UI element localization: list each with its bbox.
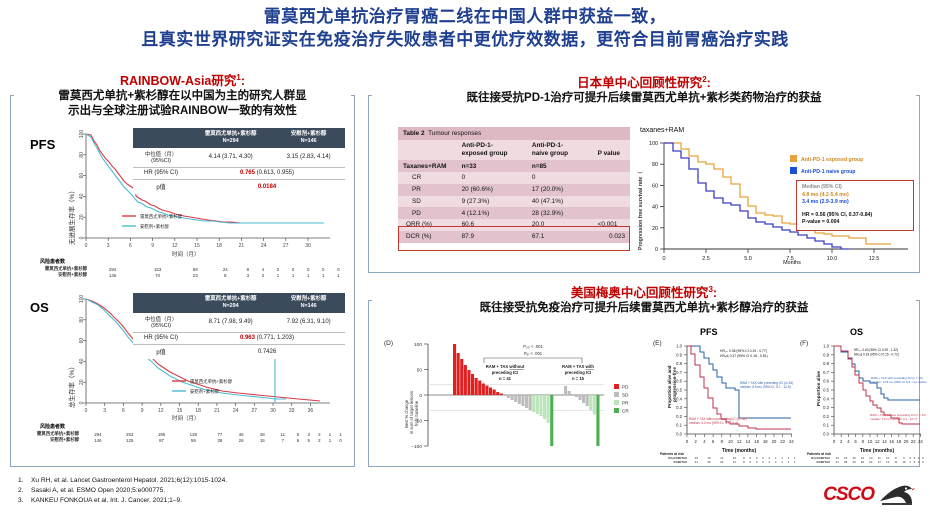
rainbow-asia-title: RAINBOW-Asia研究1: bbox=[14, 70, 351, 89]
svg-text:36: 36 bbox=[308, 408, 314, 414]
svg-text:Anti-PD-1 exposed group: Anti-PD-1 exposed group bbox=[801, 157, 863, 163]
svg-text:1.0: 1.0 bbox=[676, 344, 682, 349]
title-line-2: 且真实世界研究证实在免疫治疗失败患者中更优疗效数据，更符合目前胃癌治疗实践 bbox=[0, 29, 930, 52]
svg-text:0.0: 0.0 bbox=[823, 432, 829, 437]
table-row: Taxanes+RAM n=33 n=85 bbox=[398, 160, 630, 172]
os-risk-table: 风险患者数 雷莫西尤单抗+紫杉醇 294 253 196 128 77 46 2… bbox=[16, 423, 346, 443]
cell: 0 bbox=[457, 172, 527, 184]
table-row: 中位值（月） (95%CI) 4.14 (3.71, 4.30) 3.15 (2… bbox=[133, 148, 345, 168]
os-stat-table: 雷莫西尤单抗+紫杉醇 N=294 安慰剂+紫杉醇 N=146 中位值（月） (9… bbox=[133, 293, 345, 359]
svg-text:0: 0 bbox=[419, 393, 422, 399]
svg-text:3: 3 bbox=[107, 243, 110, 249]
cell: n=85 bbox=[527, 160, 593, 172]
os-median-v1: 8.71 (7.98, 9.49) bbox=[189, 313, 272, 333]
table-2-caption: Table 2 Tumour responses bbox=[398, 127, 630, 140]
svg-text:20: 20 bbox=[652, 226, 658, 232]
cell: n=33 bbox=[457, 160, 527, 172]
svg-text:0.2: 0.2 bbox=[676, 414, 682, 419]
th-exposed: Anti-PD-1-exposed group bbox=[457, 140, 527, 160]
svg-text:21: 21 bbox=[239, 243, 245, 249]
svg-text:SD: SD bbox=[622, 393, 629, 398]
table-row: 安慰剂+紫杉醇 146 125 87 59 38 26 15 7 6 5 2 1… bbox=[16, 437, 346, 443]
svg-text:8: 8 bbox=[862, 439, 865, 444]
risk-cell: 23 bbox=[180, 272, 210, 278]
japan-median-orange: 4.8 mo (4.2-5.4 mo) bbox=[802, 192, 908, 200]
svg-text:10: 10 bbox=[728, 439, 733, 444]
table-row: CR 0 0 bbox=[398, 172, 630, 184]
reference-item: 1.Xu RH, et al. Lancet Gastroenterol Hep… bbox=[18, 476, 227, 486]
pfs-col1-header: 雷莫西尤单抗+紫杉醇 N=294 bbox=[189, 128, 272, 148]
cell: 60.6 bbox=[457, 219, 527, 231]
svg-text:preceding ICI: preceding ICI bbox=[565, 370, 592, 375]
svg-text:PR: PR bbox=[622, 401, 629, 406]
mayo-os-chart: 1.00.90.8 0.70.60.5 0.40.30.2 0.10.0 Pro… bbox=[807, 336, 927, 464]
cell: 0.023 bbox=[593, 231, 630, 243]
risk-cell: 87 bbox=[146, 437, 178, 443]
risk-cell: 1 bbox=[270, 272, 285, 278]
svg-text:0.7: 0.7 bbox=[823, 370, 829, 375]
table-row-orr: ORR (%) 60.6 20.0 <0.001 bbox=[398, 219, 630, 231]
svg-text:安慰剂+紫杉醇: 安慰剂+紫杉醇 bbox=[190, 388, 220, 395]
cell: 67.1 bbox=[527, 231, 593, 243]
row-label: Taxanes+RAM bbox=[398, 160, 457, 172]
pfs-risk-table: 风险患者数 雷莫西尤单抗+紫杉醇 294 153 59 24 9 4 2 0 0… bbox=[16, 258, 346, 278]
cell: 87.9 bbox=[457, 231, 527, 243]
svg-text:progression-free: progression-free bbox=[672, 367, 677, 402]
svg-text:40: 40 bbox=[79, 193, 85, 199]
pfs-hr-label: HR (95% CI) bbox=[133, 167, 189, 179]
pfs-hr-value: 0.765 (0.613, 0.955) bbox=[189, 167, 345, 179]
risk-row-name: 安慰剂+紫杉醇 bbox=[16, 437, 82, 443]
svg-text:0: 0 bbox=[79, 236, 85, 239]
table-header-row: 雷莫西尤单抗+紫杉醇 N=294 安慰剂+紫杉醇 N=146 bbox=[133, 128, 345, 148]
table-row: PD 4 (12.1%) 28 (32.9%) bbox=[398, 207, 630, 219]
risk-cell: 1 bbox=[301, 272, 316, 278]
svg-text:0.8: 0.8 bbox=[823, 361, 829, 366]
risk-cell: 21 bbox=[867, 460, 875, 464]
risk-cell: 26 bbox=[858, 460, 866, 464]
risk-cell: 15 bbox=[252, 437, 273, 443]
svg-text:10: 10 bbox=[868, 439, 873, 444]
svg-text:from baseline: from baseline bbox=[414, 400, 419, 426]
svg-text:2: 2 bbox=[840, 439, 843, 444]
svg-text:0.0: 0.0 bbox=[676, 432, 682, 437]
svg-text:0.4: 0.4 bbox=[676, 396, 682, 401]
risk-cell: 6 bbox=[293, 437, 304, 443]
risk-row-name: RAM/TAX bbox=[807, 460, 833, 464]
risk-cell: 24 bbox=[715, 460, 728, 464]
svg-text:100: 100 bbox=[79, 295, 85, 303]
svg-text:18: 18 bbox=[216, 243, 222, 249]
svg-text:median: 6.6 mo (95% CI, 5.7 -: median: 6.6 mo (95% CI, 5.7 - 12.6) bbox=[740, 385, 791, 389]
svg-text:雷莫西尤单抗+紫杉醇: 雷莫西尤单抗+紫杉醇 bbox=[140, 213, 183, 220]
svg-text:8: 8 bbox=[721, 439, 724, 444]
svg-text:0: 0 bbox=[833, 439, 836, 444]
mayo-pfs-chart: 1.00.90.8 0.70.60.5 0.40.30.2 0.10.0 Pro… bbox=[660, 336, 798, 464]
os-median-v2: 7.92 (6.31, 9.10) bbox=[272, 313, 345, 333]
svg-text:0.4: 0.4 bbox=[823, 396, 829, 401]
reference-item: 2.Sasaki A, et al. ESMO Open 2020;5:e000… bbox=[18, 486, 227, 496]
svg-text:n = 41: n = 41 bbox=[499, 376, 512, 381]
row-label: ORR (%) bbox=[398, 219, 457, 231]
risk-cell: 70 bbox=[135, 272, 180, 278]
svg-text:12: 12 bbox=[875, 439, 880, 444]
svg-text:30: 30 bbox=[305, 243, 311, 249]
cell: 20.0 bbox=[527, 219, 593, 231]
svg-text:Proportion alive: Proportion alive bbox=[816, 371, 821, 406]
th-pvalue: P value bbox=[593, 140, 630, 160]
risk-cell: 8 bbox=[210, 272, 240, 278]
table-row: RAM/TAX 41 38 34 26 21 17 13 11 10 7 5 4… bbox=[807, 460, 925, 464]
japan-km-y-label: Progression free survival rate（ bbox=[637, 172, 644, 250]
table-header-row: Anti-PD-1-exposed group Anti-PD-1-naive … bbox=[398, 140, 630, 160]
svg-text:0.2: 0.2 bbox=[823, 414, 829, 419]
risk-cell: 41 bbox=[690, 460, 703, 464]
risk-cell: 34 bbox=[850, 460, 858, 464]
svg-text:median: 14.8 mo (95% CI 9.4 -: median: 14.8 mo (95% CI 9.4 - not reache… bbox=[871, 380, 927, 384]
svg-text:HRₐdⱼ 0.33 (95% CI 0.15 - 0.72: HRₐdⱼ 0.33 (95% CI 0.15 - 0.72) bbox=[854, 353, 899, 357]
svg-text:RAM + TAX without: RAM + TAX without bbox=[486, 364, 525, 369]
svg-text:2.5: 2.5 bbox=[702, 256, 710, 262]
risk-cell: 38 bbox=[841, 460, 849, 464]
risk-cell: 59 bbox=[177, 437, 209, 443]
japan-median-blue: 3.4 mo (2.9-3.9 mo) bbox=[802, 199, 908, 207]
japan-header: 日本单中心回顾性研究2: 既往接受抗PD-1治疗可提升后续雷莫西尤单抗+紫杉类药… bbox=[372, 72, 916, 106]
os-median-label: 中位值（月） (95%CI) bbox=[133, 313, 189, 333]
svg-text:−100: −100 bbox=[411, 444, 422, 450]
svg-text:安慰剂+紫杉醇: 安慰剂+紫杉醇 bbox=[140, 223, 170, 230]
pfs-x-axis-label: 时间（月） bbox=[172, 250, 200, 258]
mayo-pfs-risk-table: Patients at risk ICI+RAM/TAX 15 15 13 10… bbox=[660, 452, 798, 464]
cell bbox=[593, 207, 630, 219]
svg-text:9: 9 bbox=[141, 408, 144, 414]
csco-bird-icon bbox=[876, 481, 916, 509]
csco-logo: CSCO bbox=[823, 481, 916, 509]
os-label: OS bbox=[30, 300, 49, 315]
risk-cell: 0 bbox=[335, 437, 346, 443]
risk-cell: 125 bbox=[114, 437, 146, 443]
svg-text:14: 14 bbox=[882, 439, 887, 444]
os-p-value: 0.7426 bbox=[189, 344, 345, 359]
svg-text:2: 2 bbox=[695, 439, 698, 444]
risk-cell: 5 bbox=[303, 437, 314, 443]
svg-text:33: 33 bbox=[289, 408, 295, 414]
svg-text:18: 18 bbox=[896, 439, 901, 444]
mayo-title: 美国梅奥中心回顾性研究3: bbox=[372, 282, 916, 301]
svg-text:0: 0 bbox=[85, 243, 88, 249]
svg-text:30: 30 bbox=[270, 408, 276, 414]
svg-text:0.5: 0.5 bbox=[823, 388, 829, 393]
cell: 17 (20.0%) bbox=[527, 184, 593, 196]
svg-text:10.0: 10.0 bbox=[827, 256, 838, 262]
svg-text:40: 40 bbox=[652, 205, 658, 211]
svg-text:0.6: 0.6 bbox=[823, 379, 829, 384]
svg-text:24: 24 bbox=[261, 243, 267, 249]
cell bbox=[593, 160, 630, 172]
svg-text:100: 100 bbox=[414, 342, 422, 348]
svg-text:HRₐdⱼ 0.37 (95% CI 0.18 - 0.81: HRₐdⱼ 0.37 (95% CI 0.18 - 0.81) bbox=[720, 354, 768, 358]
svg-text:21: 21 bbox=[214, 408, 220, 414]
svg-text:9: 9 bbox=[151, 243, 154, 249]
risk-row-name: RAM/TAX bbox=[660, 460, 690, 464]
svg-text:雷莫西尤单抗+紫杉醇: 雷莫西尤单抗+紫杉醇 bbox=[190, 378, 233, 385]
svg-text:0.9: 0.9 bbox=[676, 352, 682, 357]
pfs-label: PFS bbox=[30, 137, 55, 152]
svg-text:0.1: 0.1 bbox=[823, 423, 829, 428]
cell: 4 (12.1%) bbox=[457, 207, 527, 219]
table-header-row: 雷莫西尤单抗+紫杉醇 N=294 安慰剂+紫杉醇 N=146 bbox=[133, 293, 345, 313]
mayo-header: 美国梅奥中心回顾性研究3: 既往接受抗免疫治疗可提升后续雷莫西尤单抗+紫杉醇治疗… bbox=[372, 282, 916, 316]
svg-text:0.3: 0.3 bbox=[823, 405, 829, 410]
svg-text:0: 0 bbox=[686, 439, 689, 444]
slide-root: 雷莫西尤单抗治疗胃癌二线在中国人群中获益一致， 且真实世界研究证实在免疫治疗失败… bbox=[0, 0, 930, 517]
cell bbox=[593, 196, 630, 208]
svg-text:22: 22 bbox=[911, 439, 916, 444]
svg-text:22: 22 bbox=[780, 439, 785, 444]
svg-text:P₀ᵣᵣ < .001: P₀ᵣᵣ < .001 bbox=[523, 344, 543, 349]
svg-text:0.1: 0.1 bbox=[676, 423, 682, 428]
pfs-p-label: p值 bbox=[133, 179, 189, 194]
os-p-label: p值 bbox=[133, 344, 189, 359]
table-row: p值 0.7426 bbox=[133, 344, 345, 359]
svg-text:27: 27 bbox=[283, 243, 289, 249]
svg-text:Months: Months bbox=[783, 260, 801, 265]
table-row: SD 9 (27.3%) 40 (47.1%) bbox=[398, 196, 630, 208]
table-caption-row: Table 2 Tumour responses bbox=[398, 127, 630, 140]
os-risk-title: 风险患者数 bbox=[16, 423, 346, 430]
cell: <0.001 bbox=[593, 219, 630, 231]
svg-text:60: 60 bbox=[652, 183, 658, 189]
cell bbox=[593, 184, 630, 196]
svg-text:15: 15 bbox=[194, 243, 200, 249]
svg-text:0.5: 0.5 bbox=[676, 388, 682, 393]
svg-text:Anti-PD-1 naive group: Anti-PD-1 naive group bbox=[801, 169, 855, 175]
risk-cell: 3 bbox=[240, 272, 255, 278]
svg-text:60: 60 bbox=[79, 173, 85, 179]
svg-text:12: 12 bbox=[172, 243, 178, 249]
pfs-median-label: 中位值（月） (95%CI) bbox=[133, 148, 189, 168]
svg-text:20: 20 bbox=[772, 439, 777, 444]
title-line-1: 雷莫西尤单抗治疗胃癌二线在中国人群中获益一致， bbox=[0, 6, 930, 29]
risk-cell: 1 bbox=[792, 460, 798, 464]
cell bbox=[593, 172, 630, 184]
svg-text:20: 20 bbox=[904, 439, 909, 444]
risk-cell: 11 bbox=[892, 460, 900, 464]
risk-cell: 2 bbox=[314, 437, 325, 443]
risk-cell: 1 bbox=[331, 272, 346, 278]
pfs-stat-table: 雷莫西尤单抗+紫杉醇 N=294 安慰剂+紫杉醇 N=146 中位值（月） (9… bbox=[133, 128, 345, 194]
svg-text:27: 27 bbox=[252, 408, 258, 414]
svg-text:100: 100 bbox=[79, 130, 85, 138]
svg-text:80: 80 bbox=[79, 317, 85, 323]
th-naive: Anti-PD-1-naive group bbox=[527, 140, 593, 160]
svg-text:HR₀ᵣᵣ 0.63 (95% CI 0.29 - 1.32: HR₀ᵣᵣ 0.63 (95% CI 0.29 - 1.32) bbox=[854, 348, 898, 352]
page-title: 雷莫西尤单抗治疗胃癌二线在中国人群中获益一致， 且真实世界研究证实在免疫治疗失败… bbox=[0, 6, 930, 52]
svg-text:80: 80 bbox=[79, 152, 85, 158]
cell: 9 (27.3%) bbox=[457, 196, 527, 208]
risk-cell: 1 bbox=[316, 272, 331, 278]
pfs-median-v2: 3.15 (2.83, 4.14) bbox=[272, 148, 345, 168]
svg-text:12: 12 bbox=[158, 408, 164, 414]
pfs-p-value: 0.0184 bbox=[189, 179, 345, 194]
risk-cell: 13 bbox=[883, 460, 891, 464]
mayo-subtitle: 既往接受抗免疫治疗可提升后续雷莫西尤单抗+紫杉醇治疗的获益 bbox=[372, 301, 916, 316]
svg-text:18: 18 bbox=[763, 439, 768, 444]
svg-text:RAM + TAX with: RAM + TAX with bbox=[562, 364, 594, 369]
cell: 0 bbox=[527, 172, 593, 184]
os-x-axis-label: 时间（月） bbox=[172, 414, 200, 422]
risk-cell: 1 bbox=[325, 437, 336, 443]
svg-text:80: 80 bbox=[652, 162, 658, 168]
japan-title: 日本单中心回顾性研究2: bbox=[372, 72, 916, 91]
risk-cell: 3 bbox=[921, 460, 925, 464]
svg-text:0: 0 bbox=[663, 256, 666, 262]
svg-text:0.9: 0.9 bbox=[823, 352, 829, 357]
risk-cell: 26 bbox=[230, 437, 251, 443]
svg-text:12: 12 bbox=[737, 439, 742, 444]
row-label: CR bbox=[398, 172, 457, 184]
rainbow-asia-header: RAINBOW-Asia研究1: 雷莫西尤单抗+紫杉醇在以中国为主的研究人群显 … bbox=[14, 70, 351, 119]
svg-text:20: 20 bbox=[79, 379, 85, 385]
risk-cell: 35 bbox=[703, 460, 716, 464]
svg-text:40: 40 bbox=[79, 358, 85, 364]
row-label: SD bbox=[398, 196, 457, 208]
risk-cell: 146 bbox=[82, 437, 114, 443]
svg-text:16: 16 bbox=[889, 439, 894, 444]
svg-text:CR: CR bbox=[622, 409, 629, 414]
risk-cell: 1 bbox=[286, 272, 301, 278]
japan-km-title: taxanes+RAM bbox=[640, 127, 684, 134]
row-label: DCR (%) bbox=[398, 231, 457, 243]
risk-cell: 10 bbox=[900, 460, 908, 464]
table-row: RAM/TAX 41 35 24 11 8 5 3 3 2 2 1 1 1 bbox=[660, 460, 798, 464]
table-row: 中位值（月） (95%CI) 8.71 (7.98, 9.49) 7.92 (6… bbox=[133, 313, 345, 333]
csco-logo-text: CSCO bbox=[823, 484, 874, 506]
row-label: PD bbox=[398, 207, 457, 219]
mayo-os-risk-table: Patients at risk ICI+RAM/TAX 15 15 15 14… bbox=[807, 452, 925, 464]
cell: 40 (47.1%) bbox=[527, 196, 593, 208]
table-row: 安慰剂+紫杉醇 146 70 23 8 3 2 1 1 1 1 1 bbox=[16, 272, 346, 278]
svg-text:0: 0 bbox=[655, 247, 658, 253]
svg-text:6: 6 bbox=[712, 439, 715, 444]
svg-text:preceding ICI: preceding ICI bbox=[492, 370, 519, 375]
row-label: PR bbox=[398, 184, 457, 196]
svg-text:100: 100 bbox=[649, 141, 658, 147]
japan-km-stats-box: Median (95% CI) 4.8 mo (4.2-5.4 mo) 3.4 … bbox=[796, 180, 914, 231]
svg-text:0: 0 bbox=[85, 408, 88, 414]
reference-item: 3.KANKEU FONKOUA et al. Int. J. Cancer. … bbox=[18, 496, 227, 506]
mayo-waterfall-chart: 100500 −50−100 Best % change in sum of t… bbox=[392, 336, 647, 464]
svg-text:60: 60 bbox=[79, 338, 85, 344]
risk-cell: 7 bbox=[273, 437, 293, 443]
os-col1-header: 雷莫西尤单抗+紫杉醇 N=294 bbox=[189, 293, 272, 313]
pfs-col2-header: 安慰剂+紫杉醇 N=146 bbox=[272, 128, 345, 148]
svg-text:n = 15: n = 15 bbox=[572, 376, 585, 381]
svg-text:12.5: 12.5 bbox=[869, 256, 880, 262]
svg-text:6: 6 bbox=[854, 439, 857, 444]
svg-text:0.8: 0.8 bbox=[676, 361, 682, 366]
risk-cell: 41 bbox=[833, 460, 841, 464]
risk-cell: 146 bbox=[90, 272, 135, 278]
japan-pvalue: P-value = 0.004 bbox=[802, 219, 908, 227]
svg-text:16: 16 bbox=[754, 439, 759, 444]
references-list: 1.Xu RH, et al. Lancet Gastroenterol Hep… bbox=[18, 476, 227, 507]
rainbow-asia-subtitle-1: 雷莫西尤单抗+紫杉醇在以中国为主的研究人群显 bbox=[14, 89, 351, 104]
svg-text:6: 6 bbox=[129, 243, 132, 249]
table-row: HR (95% CI) 0.765 (0.613, 0.955) bbox=[133, 167, 345, 179]
svg-text:median: 7.8 mo (95% CI 6.1 - 1: median: 7.8 mo (95% CI 6.1 - 10.7) bbox=[870, 417, 917, 421]
risk-row-name: 安慰剂+紫杉醇 bbox=[16, 272, 90, 278]
table-row: p值 0.0184 bbox=[133, 179, 345, 194]
svg-text:0.7: 0.7 bbox=[676, 370, 682, 375]
os-hr-value: 0.963 (0.771, 1.203) bbox=[189, 332, 345, 344]
svg-text:24: 24 bbox=[789, 439, 794, 444]
svg-text:PD: PD bbox=[622, 385, 629, 390]
risk-cell: 2 bbox=[255, 272, 270, 278]
table-row: PR 20 (60.6%) 17 (20.0%) bbox=[398, 184, 630, 196]
svg-text:5.0: 5.0 bbox=[744, 256, 752, 262]
svg-text:HR₀ᵣᵣ 0.38 (95% CI 0.19 - 0.77: HR₀ᵣᵣ 0.38 (95% CI 0.19 - 0.77) bbox=[720, 349, 767, 353]
os-hr-label: HR (95% CI) bbox=[133, 332, 189, 344]
svg-text:0: 0 bbox=[79, 401, 85, 404]
risk-cell: 17 bbox=[875, 460, 883, 464]
svg-text:6: 6 bbox=[122, 408, 125, 414]
svg-text:20: 20 bbox=[79, 214, 85, 220]
cell: 28 (32.9%) bbox=[527, 207, 593, 219]
svg-text:0.3: 0.3 bbox=[676, 405, 682, 410]
svg-text:50: 50 bbox=[417, 368, 423, 374]
risk-cell: 11 bbox=[728, 460, 741, 464]
svg-text:14: 14 bbox=[746, 439, 751, 444]
svg-text:24: 24 bbox=[918, 439, 923, 444]
risk-cell: 38 bbox=[209, 437, 230, 443]
svg-text:Pₑᵣ < .001: Pₑᵣ < .001 bbox=[524, 351, 543, 356]
svg-text:24: 24 bbox=[233, 408, 239, 414]
japan-median-title: Median (95% CI) bbox=[802, 184, 908, 192]
rainbow-asia-subtitle-2: 示出与全球注册试验RAINBOW一致的有效性 bbox=[14, 104, 351, 119]
svg-text:4: 4 bbox=[703, 439, 706, 444]
cell: 20 (60.6%) bbox=[457, 184, 527, 196]
pfs-risk-title: 风险患者数 bbox=[16, 258, 346, 265]
svg-text:0.6: 0.6 bbox=[676, 379, 682, 384]
svg-text:median: 4.0 mo (95% CI, 3.7 -: median: 4.0 mo (95% CI, 3.7 - 5.4) bbox=[689, 421, 738, 425]
svg-text:1.0: 1.0 bbox=[823, 344, 829, 349]
table-row: HR (95% CI) 0.963 (0.771, 1.203) bbox=[133, 332, 345, 344]
pfs-median-v1: 4.14 (3.71, 4.30) bbox=[189, 148, 272, 168]
japan-subtitle: 既往接受抗PD-1治疗可提升后续雷莫西尤单抗+紫杉类药物治疗的获益 bbox=[372, 91, 916, 106]
table-2-tumour-responses: Table 2 Tumour responses Anti-PD-1-expos… bbox=[398, 127, 630, 243]
table-row-dcr: DCR (%) 87.9 67.1 0.023 bbox=[398, 231, 630, 243]
svg-text:3: 3 bbox=[103, 408, 106, 414]
svg-text:4: 4 bbox=[847, 439, 850, 444]
japan-hr: HR = 0.56 (95% CI, 0.37-0.84) bbox=[802, 212, 908, 220]
os-col2-header: 安慰剂+紫杉醇 N=146 bbox=[272, 293, 345, 313]
